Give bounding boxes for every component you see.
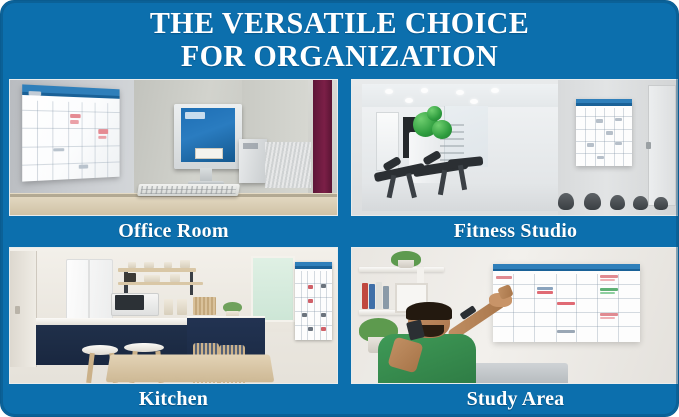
fitness-door-handle: [646, 142, 651, 149]
office-monitor-sticky-note: [195, 148, 223, 159]
kitchen-shelf: [118, 268, 196, 271]
panel-kitchen: Kitchen: [9, 247, 338, 414]
scene-study: [352, 248, 679, 383]
panel-grid: Office Room: [1, 79, 679, 417]
study-man-hair: [406, 302, 452, 320]
kettlebell: [584, 193, 600, 209]
scene-fitness: [352, 80, 679, 215]
wall-calendar-fitness: [576, 99, 632, 167]
study-plant-pot: [398, 260, 414, 268]
kettlebell: [654, 197, 667, 209]
kettlebell: [610, 195, 625, 210]
wall-calendar-study: [493, 264, 640, 342]
dining-table: [106, 355, 274, 383]
calendar-grid: [295, 262, 333, 340]
scene-office: [10, 80, 337, 215]
page-title: THE VERSATILE CHOICE FOR ORGANIZATION: [1, 6, 678, 72]
caption-study-area: Study Area: [351, 384, 679, 414]
exercise-ball: [427, 106, 443, 121]
calendar-grid: [493, 264, 640, 342]
panel-fitness: Fitness Studio: [351, 79, 679, 246]
kitchen-door-handle: [15, 306, 20, 314]
caption-fitness-studio: Fitness Studio: [351, 216, 679, 246]
office-monitor-logo: [185, 112, 205, 119]
title-line-1: THE VERSATILE CHOICE: [11, 6, 668, 39]
caption-office-room: Office Room: [9, 216, 338, 246]
kettlebell: [558, 193, 574, 209]
photo-office-room: [9, 79, 338, 216]
wall-calendar-kitchen: [295, 262, 333, 340]
scene-kitchen: [10, 248, 337, 383]
office-keyboard-keys: [140, 186, 236, 194]
fitness-room: [362, 84, 558, 211]
kettlebell: [633, 196, 648, 210]
office-tower-logo: [243, 143, 258, 148]
caption-kitchen: Kitchen: [9, 384, 338, 414]
infographic-poster: THE VERSATILE CHOICE FOR ORGANIZATION: [0, 0, 679, 417]
exercise-ball: [432, 120, 452, 139]
study-laptop: [470, 363, 568, 383]
photo-kitchen: [9, 247, 338, 384]
kitchen-window: [251, 256, 294, 322]
wall-calendar-office: [22, 84, 120, 181]
title-line-2: FOR ORGANIZATION: [11, 39, 668, 72]
office-maroon-partition: [313, 80, 333, 204]
panel-study: Study Area: [351, 247, 679, 414]
panel-office: Office Room: [9, 79, 338, 246]
microwave-door: [115, 295, 144, 310]
photo-fitness-studio: [351, 79, 679, 216]
photo-study-area: [351, 247, 679, 384]
fitness-door: [648, 85, 676, 206]
refrigerator-door-split: [88, 259, 90, 320]
office-cables: [265, 142, 311, 188]
calendar-grid: [576, 99, 632, 167]
calendar-grid: [22, 84, 120, 181]
fitness-ceiling: [362, 84, 558, 107]
